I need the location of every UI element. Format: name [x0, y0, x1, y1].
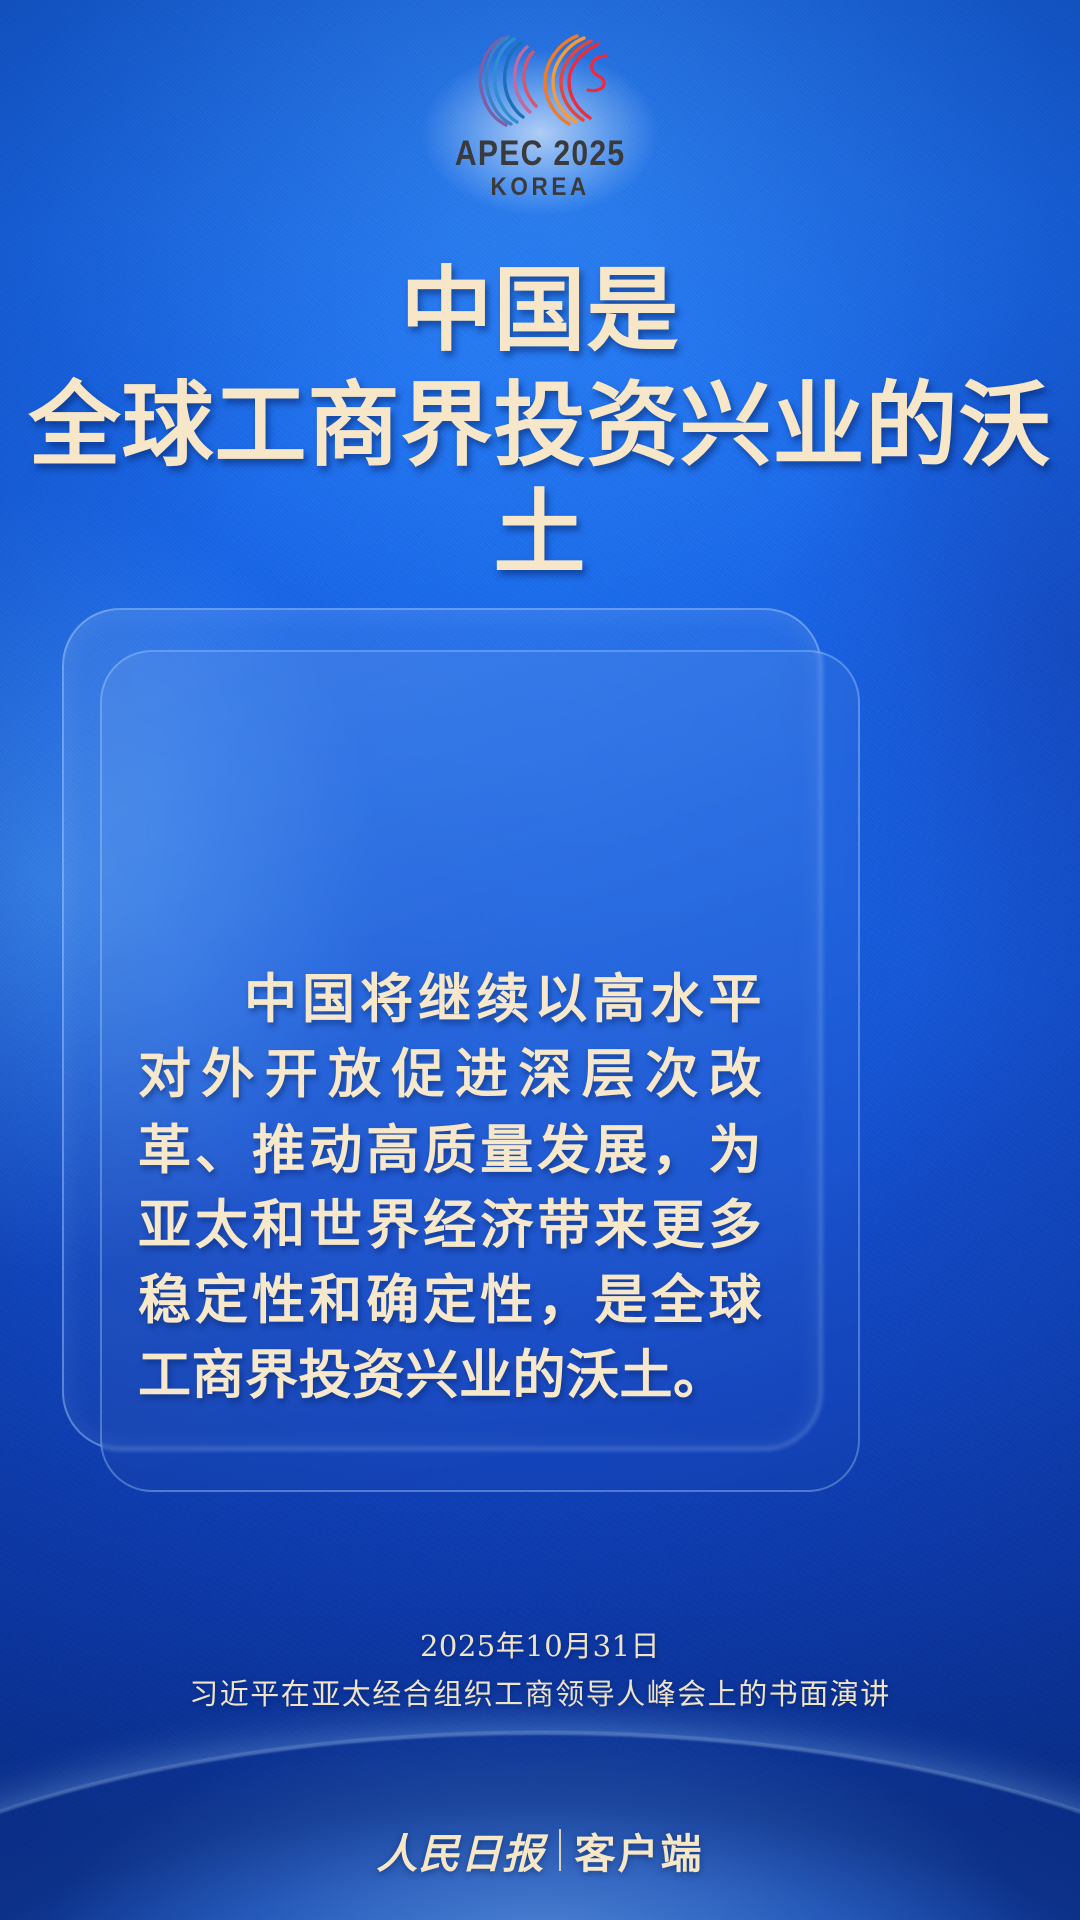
apec-logo-title: APEC 2025: [455, 136, 626, 172]
apec-logo-icon: [445, 24, 635, 132]
page-title-line-2: 全球工商界投资兴业的沃土: [0, 371, 1080, 588]
attribution: 2025年10月31日 习近平在亚太经合组织工商领导人峰会上的书面演讲: [0, 1625, 1080, 1716]
apec-logo-subtitle: KOREA: [490, 173, 589, 202]
brand-divider: [559, 1829, 561, 1871]
apec-logo: APEC 2025 KOREA: [0, 24, 1080, 202]
page-title: 中国是 全球工商界投资兴业的沃土: [0, 256, 1080, 588]
attribution-date: 2025年10月31日: [0, 1625, 1080, 1669]
page-title-line-1: 中国是: [0, 256, 1080, 365]
attribution-source: 习近平在亚太经合组织工商领导人峰会上的书面演讲: [0, 1673, 1080, 1717]
brand-logo: 人民日报 客户端: [0, 1820, 1080, 1880]
poster-canvas: APEC 2025 KOREA 中国是 全球工商界投资兴业的沃土 中国将继续以高…: [0, 0, 1080, 1920]
brand-product: 客户端: [575, 1820, 704, 1880]
quote-text: 中国将继续以高水平对外开放促进深层次改革、推动高质量发展，为亚太和世界经济带来更…: [138, 962, 762, 1414]
brand-publisher: 人民日报: [377, 1820, 545, 1880]
